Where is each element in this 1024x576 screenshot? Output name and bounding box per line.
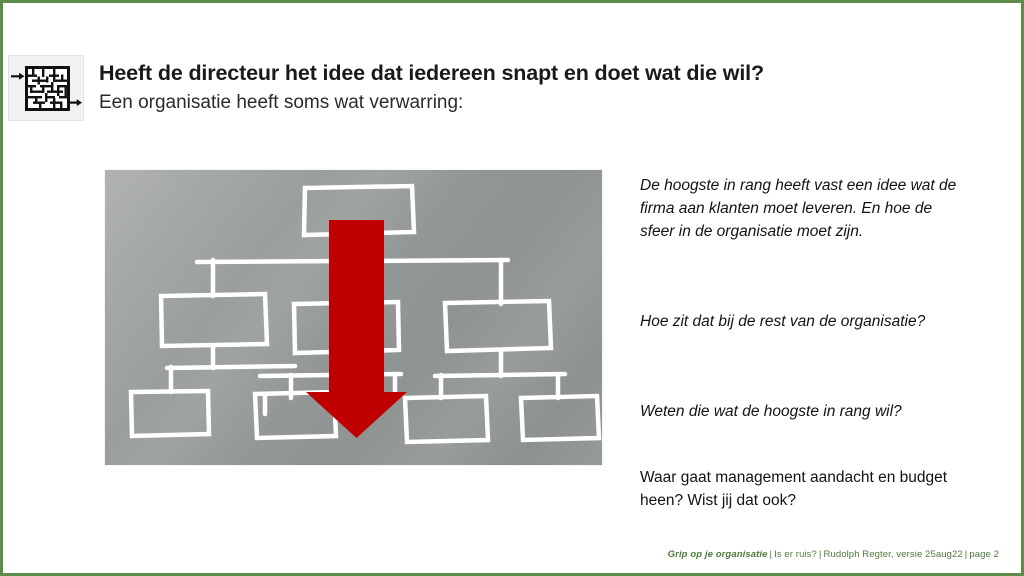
org-chart-illustration: [105, 170, 602, 465]
body-paragraph-4: Waar gaat management aandacht en budget …: [640, 467, 962, 513]
footer: Grip op je organisatie|Is er ruis?|Rudol…: [668, 549, 999, 560]
footer-part-1: Is er ruis?: [774, 549, 817, 560]
maze-icon: [9, 56, 83, 120]
slide: Heeft de directeur het idee dat iedereen…: [0, 0, 1024, 576]
body-paragraph-2: Hoe zit dat bij de rest van de organisat…: [640, 311, 962, 334]
footer-brand: Grip op je organisatie: [668, 549, 768, 560]
org-chart-image: [105, 170, 602, 465]
footer-part-2: Rudolph Regter, versie 25aug22: [823, 549, 962, 560]
footer-page-number: page 2: [969, 549, 999, 560]
red-down-arrow: [306, 220, 407, 438]
slide-subtitle: Een organisatie heeft soms wat verwarrin…: [99, 91, 899, 115]
slide-title: Heeft de directeur het idee dat iedereen…: [99, 61, 899, 86]
body-paragraph-1: De hoogste in rang heeft vast een idee w…: [640, 175, 962, 243]
maze-logo: [8, 55, 84, 121]
body-paragraph-3: Weten die wat de hoogste in rang wil?: [640, 401, 962, 424]
